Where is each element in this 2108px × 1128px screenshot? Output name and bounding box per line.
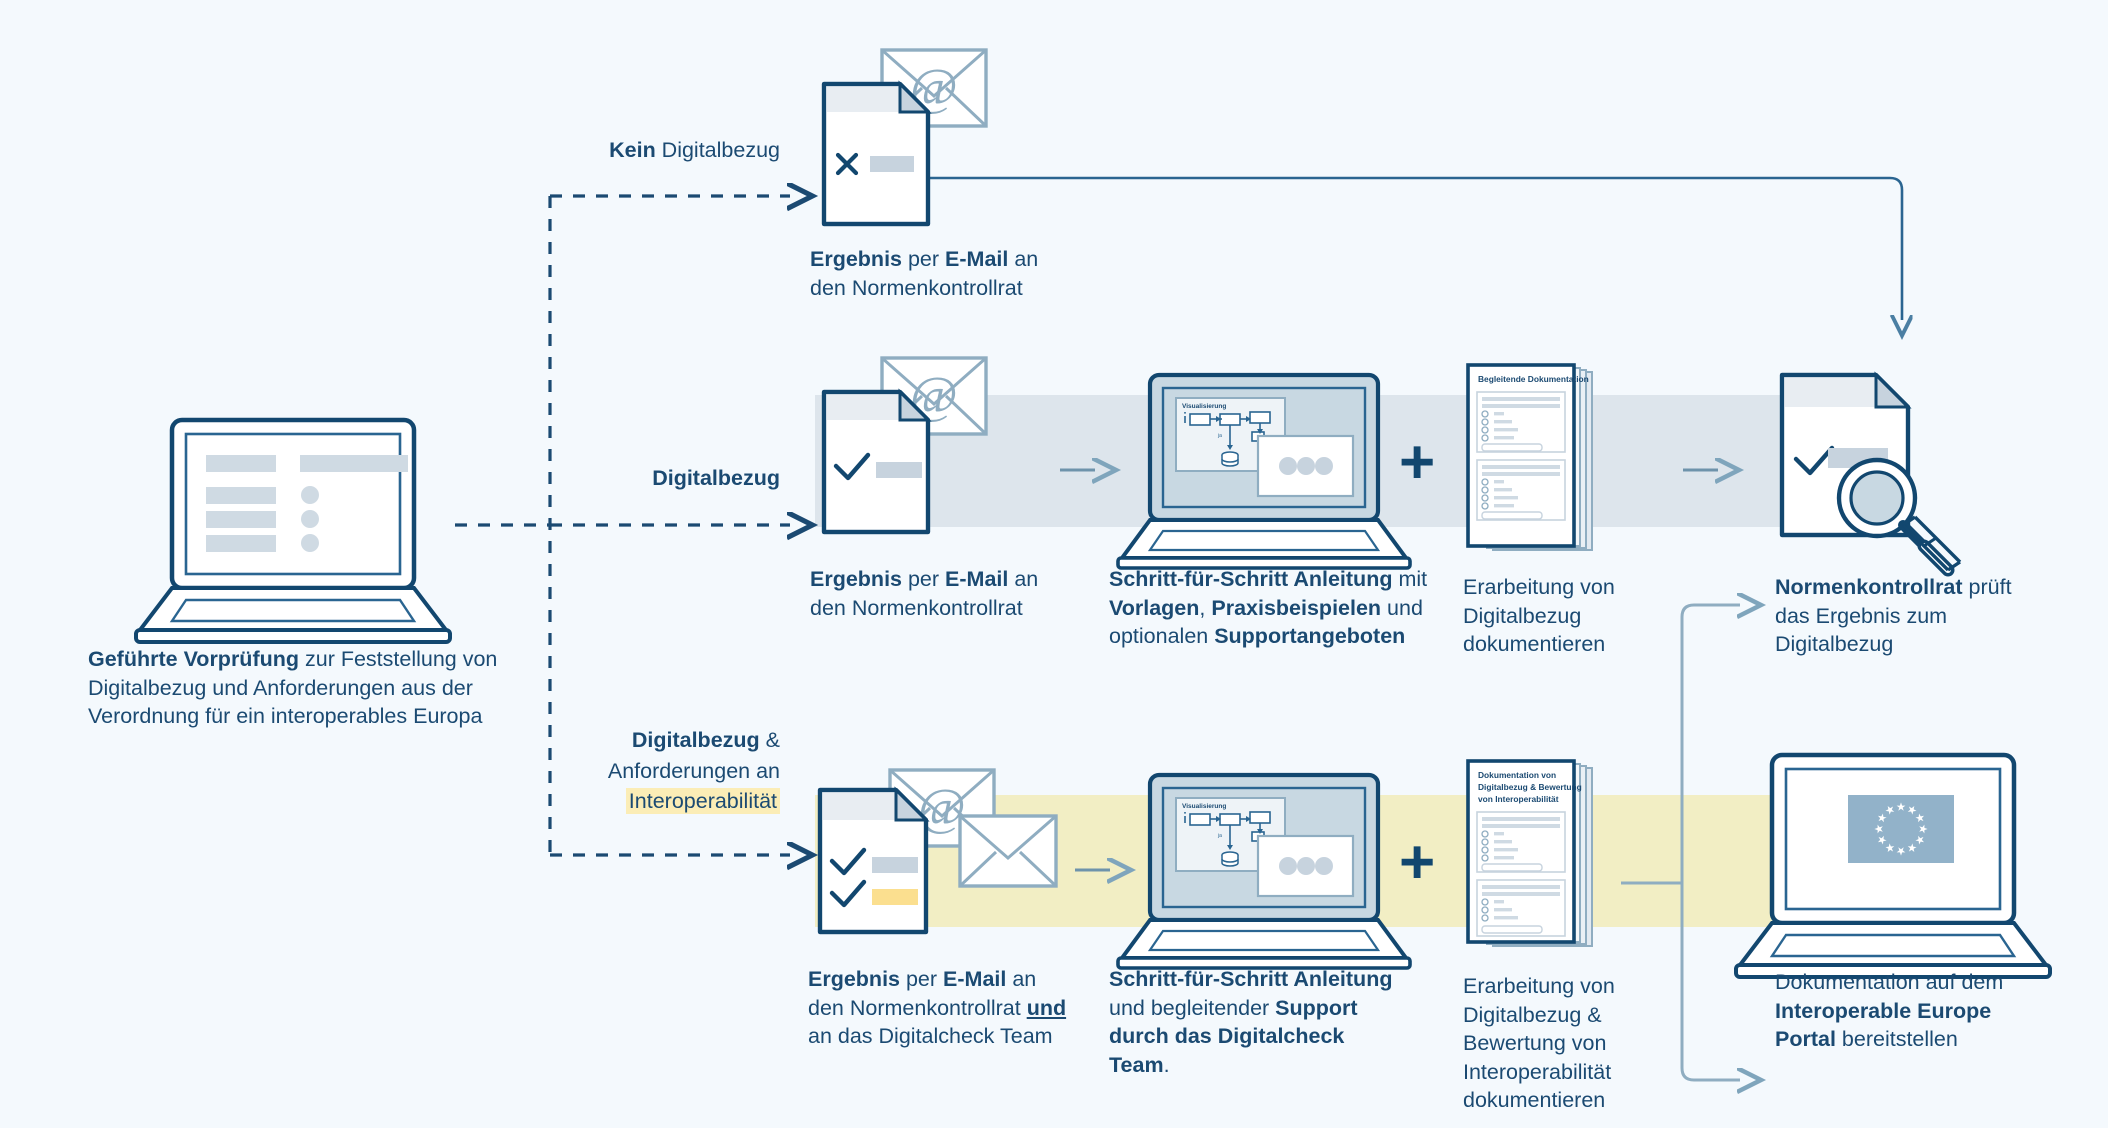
caption-mid-doc: Erarbeitung von Digitalbezug dokumentier… [1463, 573, 1673, 659]
start-caption-bold: Geführte Vorprüfung [88, 647, 299, 671]
doc-title-mid: Begleitende Dokumentation [1478, 374, 1589, 384]
laptop-guide-icon: Visualisierung ja [1118, 375, 1410, 568]
feedback-line-top [928, 178, 1902, 320]
branch-label-3-line1: Digitalbezug & [380, 725, 780, 756]
branch-label-1-bold: Kein [609, 138, 656, 162]
branch-label-3-line3: Interoperabilität [380, 786, 780, 817]
svg-text:Dokumentation von: Dokumentation von [1478, 770, 1556, 780]
document-stack-icon: Dokumentation von Digitalbezug & Bewertu… [1468, 761, 1592, 946]
document-check-magnifier-icon [1782, 375, 1960, 570]
laptop-eu-flag-icon [1736, 755, 2050, 977]
caption-bottom-guide: Schritt-für-Schritt Anleitung und beglei… [1109, 965, 1409, 1079]
laptop-guide-icon: Visualisierung ja [1118, 775, 1410, 968]
svg-text:Visualisierung: Visualisierung [1182, 803, 1226, 810]
document-cross-envelope-icon: @ [824, 50, 986, 224]
branch-label-1-rest: Digitalbezug [656, 138, 780, 162]
svg-text:ja: ja [1217, 833, 1222, 839]
branch-label-kein-digitalbezug: Kein Digitalbezug [380, 135, 780, 166]
branch-label-2-bold: Digitalbezug [652, 466, 780, 490]
caption-bottom-doc: Erarbeitung von Digitalbezug & Bewertung… [1463, 972, 1703, 1115]
laptop-icon [136, 420, 450, 642]
caption-bottom-result: Ergebnis per E-Mail an den Normenkontrol… [808, 965, 1073, 1051]
diagram-vector-layer: @ @ Visualisierung [0, 0, 2108, 1128]
svg-text:ja: ja [1217, 433, 1222, 439]
branch-label-3-line2: Anforderungen an [380, 756, 780, 787]
caption-bottom-portal: Dokumentation auf dem Interoperable Euro… [1775, 968, 2025, 1054]
branch-label-3-highlight: Interoperabilität [626, 788, 780, 814]
plus-connector-bottom: + [1399, 832, 1435, 894]
svg-text:Visualisierung: Visualisierung [1182, 403, 1226, 410]
svg-text:von Interoperabilität: von Interoperabilität [1478, 794, 1559, 804]
svg-text:Digitalbezug & Bewertung: Digitalbezug & Bewertung [1478, 782, 1582, 792]
caption-top-result: Ergebnis per E-Mail an den Normenkontrol… [810, 245, 1060, 302]
plus-connector-mid: + [1399, 432, 1435, 494]
diagram-canvas: @ @ Visualisierung [0, 0, 2108, 1128]
branch-label-digitalbezug: Digitalbezug [380, 463, 780, 494]
start-caption: Geführte Vorprüfung zur Feststellung von… [88, 645, 508, 731]
document-stack-icon: Begleitende Dokumentation [1468, 365, 1592, 550]
caption-mid-result: Ergebnis per E-Mail an den Normenkontrol… [810, 565, 1060, 622]
branch-label-digitalbezug-interop: Digitalbezug & Anforderungen an Interope… [380, 725, 780, 817]
caption-mid-nkr: Normenkontrollrat prüft das Ergebnis zum… [1775, 573, 2025, 659]
caption-mid-guide: Schritt-für-Schritt Anleitung mit Vorlag… [1109, 565, 1439, 651]
